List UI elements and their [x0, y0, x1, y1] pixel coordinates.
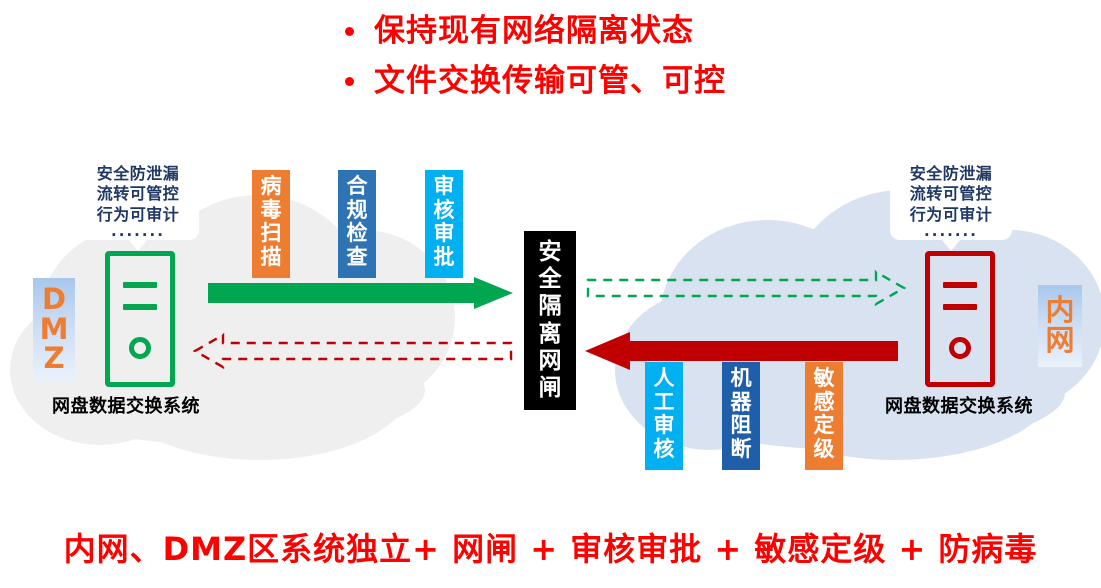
control-bar-manual-review: 人 工 审 核 — [645, 362, 683, 470]
dmz-zone-tag-char-3: Z — [43, 344, 64, 374]
dmz-server-bar-1 — [123, 282, 157, 288]
arrow-gateway-to-dmz-shape — [193, 330, 513, 372]
dmz-server-bar-2 — [123, 304, 157, 310]
arrow-dmz-to-gateway-shaft — [208, 283, 478, 303]
intranet-callout-line-3: 行为可审计 — [900, 205, 1002, 225]
header-bullet-1-text: 保持现有网络隔离状态 — [374, 14, 694, 48]
dmz-callout-bubble: 安全防泄漏 流转可管控 行为可审计 ······· — [77, 156, 199, 240]
dmz-callout-line-2: 流转可管控 — [87, 184, 189, 204]
arrow-gateway-to-intranet — [586, 267, 906, 309]
control-bar-review-approval-char-2: 核 — [434, 199, 455, 223]
control-bar-virus-scan-char-3: 扫 — [261, 222, 282, 246]
dmz-server-icon — [105, 251, 175, 387]
dmz-server-caption: 网盘数据交换系统 — [52, 392, 200, 418]
control-bar-compliance-check-char-1: 合 — [347, 175, 368, 199]
security-gateway-char-5: 网 — [539, 348, 562, 375]
control-bar-review-approval-char-1: 审 — [434, 175, 455, 199]
intranet-callout-bubble: 安全防泄漏 流转可管控 行为可审计 ······· — [890, 156, 1012, 240]
dmz-callout-tail-icon — [128, 239, 148, 251]
control-bar-manual-review-char-3: 审 — [654, 414, 675, 438]
control-bar-compliance-check-char-4: 查 — [347, 246, 368, 270]
arrow-dmz-to-gateway — [208, 277, 513, 309]
intranet-cloud-shape — [615, 185, 1101, 470]
control-bar-review-approval-char-3: 审 — [434, 222, 455, 246]
intranet-callout-line-2: 流转可管控 — [900, 184, 1002, 204]
bullet-dot-icon — [345, 77, 354, 86]
control-bar-review-approval: 审 核 审 批 — [425, 170, 463, 278]
security-gateway-char-2: 全 — [539, 266, 562, 293]
intranet-zone-tag: 内 网 — [1038, 285, 1082, 367]
intranet-callout-tail-icon — [941, 239, 961, 251]
security-gateway-char-6: 闸 — [539, 375, 562, 402]
control-bar-sensitivity-grading-char-1: 敏 — [814, 367, 835, 391]
control-bar-machine-block: 机 器 阻 断 — [722, 362, 760, 470]
dmz-server-power-icon — [129, 337, 151, 359]
control-bar-machine-block-char-1: 机 — [731, 367, 752, 391]
intranet-server-bar-2 — [943, 304, 977, 310]
arrow-gateway-to-intranet-shape — [586, 267, 906, 309]
bullet-dot-icon — [345, 27, 354, 36]
security-gateway-char-3: 隔 — [539, 293, 562, 320]
header-bullet-2: 文件交换传输可管、可控 — [345, 64, 945, 98]
control-bar-machine-block-char-2: 器 — [731, 391, 752, 415]
control-bar-machine-block-char-4: 断 — [731, 438, 752, 462]
control-bar-compliance-check-char-3: 检 — [347, 222, 368, 246]
control-bar-compliance-check: 合 规 检 查 — [338, 170, 376, 278]
dmz-zone-tag-char-1: D — [42, 285, 66, 315]
control-bar-manual-review-char-4: 核 — [654, 438, 675, 462]
control-bar-review-approval-char-4: 批 — [434, 246, 455, 270]
control-bar-virus-scan: 病 毒 扫 描 — [252, 170, 290, 278]
control-bar-sensitivity-grading-char-3: 定 — [814, 414, 835, 438]
header-bullet-1: 保持现有网络隔离状态 — [345, 14, 945, 48]
control-bar-sensitivity-grading-char-4: 级 — [814, 438, 835, 462]
control-bar-virus-scan-char-2: 毒 — [261, 199, 282, 223]
control-bar-manual-review-char-1: 人 — [654, 367, 675, 391]
control-bar-sensitivity-grading-char-2: 感 — [814, 391, 835, 415]
control-bar-virus-scan-char-4: 描 — [261, 246, 282, 270]
security-gateway-char-1: 安 — [539, 239, 562, 266]
dmz-zone-tag: D M Z — [33, 278, 75, 381]
control-bar-virus-scan-char-1: 病 — [261, 175, 282, 199]
security-gateway-box: 安 全 隔 离 网 闸 — [524, 231, 576, 410]
dmz-callout-line-1: 安全防泄漏 — [87, 164, 189, 184]
intranet-callout-line-1: 安全防泄漏 — [900, 164, 1002, 184]
header-bullet-list: 保持现有网络隔离状态 文件交换传输可管、可控 — [345, 14, 945, 114]
dmz-zone-tag-char-2: M — [40, 315, 69, 345]
arrow-intranet-to-gateway-head-icon — [585, 332, 630, 370]
arrow-gateway-to-dmz — [193, 330, 513, 372]
control-bar-manual-review-char-2: 工 — [654, 391, 675, 415]
header-bullet-2-text: 文件交换传输可管、可控 — [374, 64, 726, 98]
intranet-server-bar-1 — [943, 282, 977, 288]
control-bar-sensitivity-grading: 敏 感 定 级 — [805, 362, 843, 470]
intranet-server-power-icon — [949, 337, 971, 359]
arrow-intranet-to-gateway-shaft — [628, 341, 898, 361]
diagram-canvas: 保持现有网络隔离状态 文件交换传输可管、可控 D M Z 安全防泄漏 流转可管控… — [0, 0, 1101, 588]
intranet-zone-tag-char-1: 内 — [1045, 296, 1074, 326]
control-bar-machine-block-char-3: 阻 — [731, 414, 752, 438]
intranet-server-caption: 网盘数据交换系统 — [885, 392, 1033, 418]
summary-formula: 内网、DMZ区系统独立+ 网闸 + 审核审批 + 敏感定级 + 防病毒 — [0, 524, 1101, 570]
intranet-zone-tag-char-2: 网 — [1045, 326, 1074, 356]
security-gateway-char-4: 离 — [539, 321, 562, 348]
dmz-callout-line-3: 行为可审计 — [87, 205, 189, 225]
arrow-dmz-to-gateway-head-icon — [474, 277, 513, 309]
intranet-server-icon — [925, 251, 995, 387]
control-bar-compliance-check-char-2: 规 — [347, 199, 368, 223]
